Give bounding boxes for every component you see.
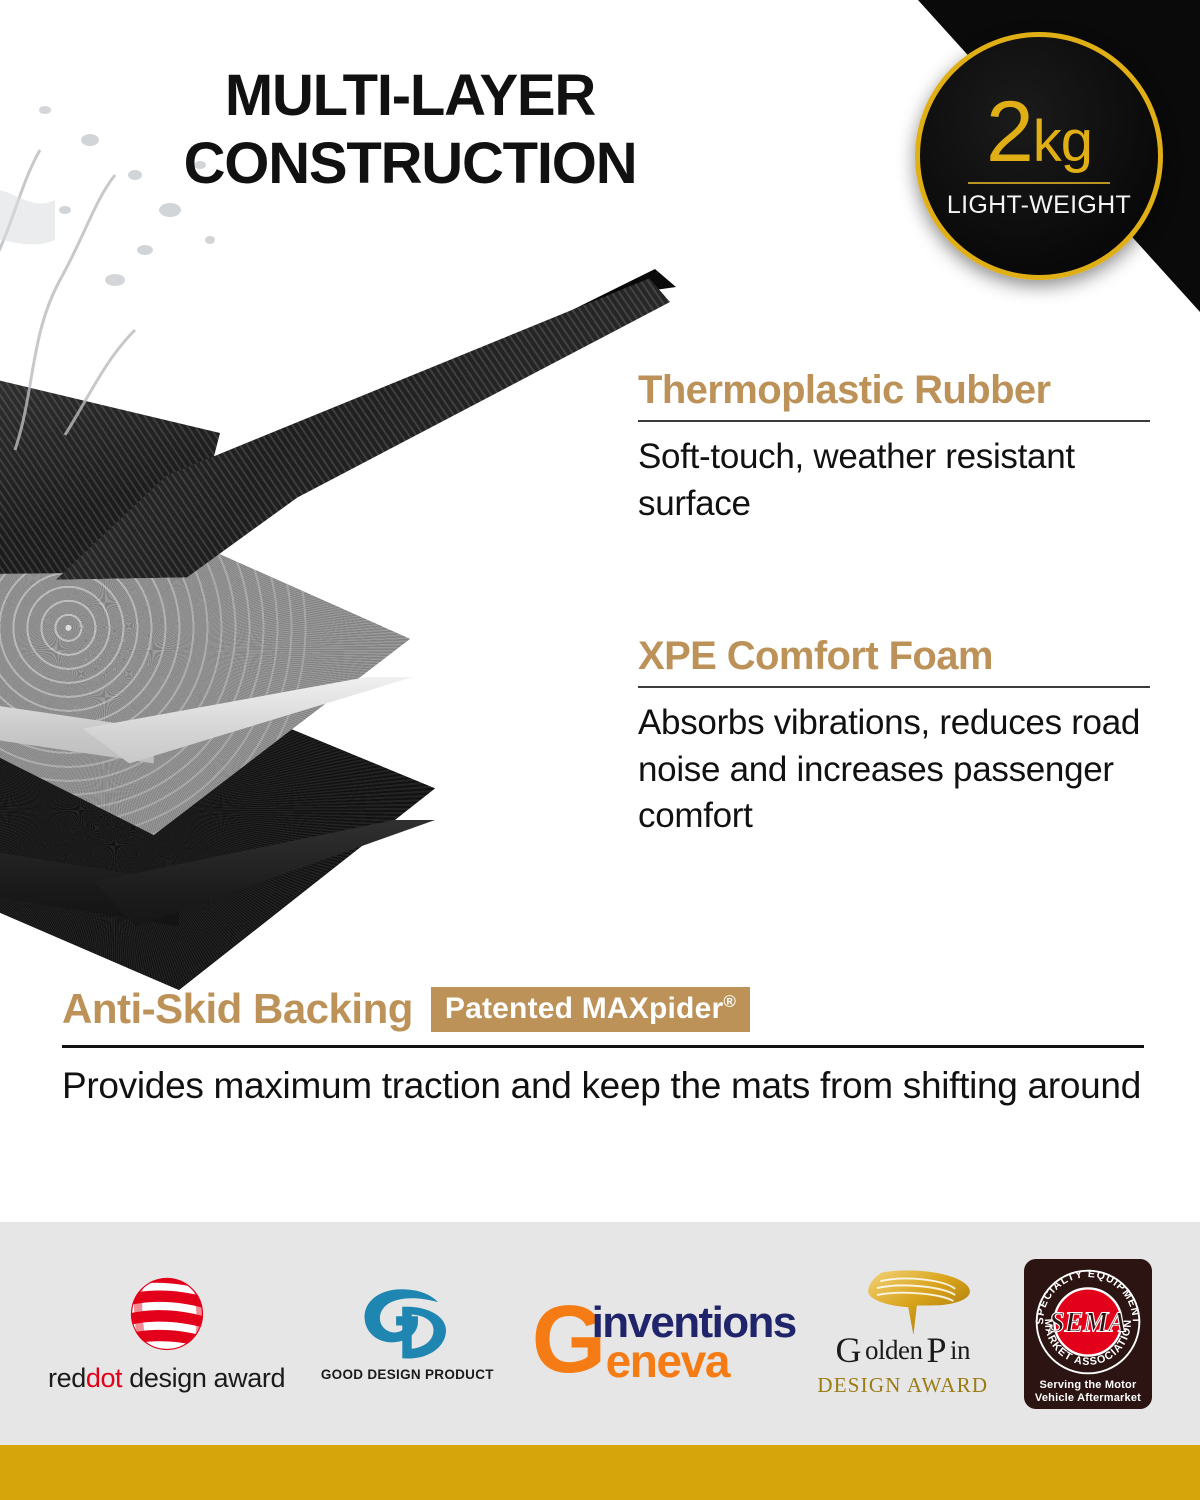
feature-xpe-comfort-foam: XPE Comfort Foam Absorbs vibrations, red…: [638, 634, 1150, 840]
award-good-design-product: GOOD DESIGN PRODUCT: [321, 1285, 494, 1382]
reddot-label-dot: dot: [86, 1363, 122, 1393]
golden-pin-wordmark: Golden Pin: [836, 1329, 971, 1371]
reddot-label: reddot design award: [48, 1363, 285, 1394]
award-inventions-geneva: G inventions eneva: [530, 1286, 782, 1382]
feature-body: Absorbs vibrations, reduces road noise a…: [638, 700, 1150, 840]
feature-anti-skid-backing: Anti-Skid Backing Patented MAXpider® Pro…: [62, 985, 1144, 1109]
svg-text:SEMA: SEMA: [1049, 1307, 1127, 1338]
award-reddot-design-award: reddot design award: [48, 1273, 285, 1394]
patented-maxpider-badge: Patented MAXpider®: [431, 987, 750, 1032]
feature-divider: [638, 420, 1150, 422]
weight-badge-label: LIGHT-WEIGHT: [947, 191, 1131, 220]
golden-pin-word-golden-cap: G: [836, 1329, 862, 1371]
awards-footer: reddot design award GOOD DESIGN PRODUCT …: [0, 1222, 1200, 1445]
feature-heading: Thermoplastic Rubber: [638, 368, 1150, 412]
reddot-label-red: red: [48, 1363, 86, 1393]
page-title-line-2: CONSTRUCTION: [0, 130, 820, 198]
weight-badge: 2 kg LIGHT-WEIGHT: [915, 32, 1163, 280]
feature-heading: XPE Comfort Foam: [638, 634, 1150, 678]
golden-pin-caption: DESIGN AWARD: [817, 1373, 988, 1398]
sema-caption-line-1: Serving the Motor: [1035, 1379, 1141, 1393]
patented-maxpider-label: Patented MAXpider: [445, 992, 723, 1025]
weight-badge-unit: kg: [1033, 114, 1092, 169]
inventions-geneva-word-bottom: eneva: [606, 1334, 729, 1388]
reddot-sphere-icon: [126, 1273, 208, 1355]
inventions-geneva-logo: G inventions eneva: [530, 1286, 782, 1382]
sema-caption: Serving the Motor Vehicle Aftermarket: [1035, 1379, 1141, 1407]
registered-trademark-icon: ®: [723, 992, 736, 1011]
award-sema: SPECIALTY EQUIPMENT MARKET ASSOCIATION S…: [1024, 1259, 1152, 1409]
good-design-gd-icon: [359, 1285, 455, 1363]
anti-skid-heading: Anti-Skid Backing: [62, 985, 413, 1033]
good-design-caption: GOOD DESIGN PRODUCT: [321, 1367, 494, 1382]
sema-caption-line-2: Vehicle Aftermarket: [1035, 1392, 1141, 1406]
golden-pin-swirl-icon: [833, 1269, 973, 1335]
golden-pin-word-golden-rest: olden: [865, 1335, 923, 1366]
anti-skid-body: Provides maximum traction and keep the m…: [62, 1062, 1144, 1109]
weight-badge-value-row: 2 kg: [986, 92, 1092, 178]
golden-pin-word-pin-rest: in: [950, 1335, 970, 1366]
anti-skid-heading-row: Anti-Skid Backing Patented MAXpider®: [62, 985, 1144, 1033]
anti-skid-divider: [62, 1045, 1144, 1048]
award-golden-pin: Golden Pin DESIGN AWARD: [817, 1269, 988, 1398]
bottom-gold-bar: [0, 1445, 1200, 1500]
feature-divider: [638, 686, 1150, 688]
golden-pin-word-pin-cap: P: [927, 1329, 947, 1371]
page-title: MULTI-LAYER CONSTRUCTION: [0, 62, 820, 199]
feature-thermoplastic-rubber: Thermoplastic Rubber Soft-touch, weather…: [638, 368, 1150, 527]
page-title-line-1: MULTI-LAYER: [0, 62, 820, 130]
product-illustration: [0, 265, 680, 965]
feature-body: Soft-touch, weather resistant surface: [638, 434, 1150, 527]
sema-seal-icon: SPECIALTY EQUIPMENT MARKET ASSOCIATION S…: [1032, 1266, 1144, 1378]
weight-badge-value: 2: [986, 92, 1033, 174]
weight-badge-divider: [968, 182, 1110, 184]
reddot-label-rest: design award: [122, 1363, 285, 1393]
